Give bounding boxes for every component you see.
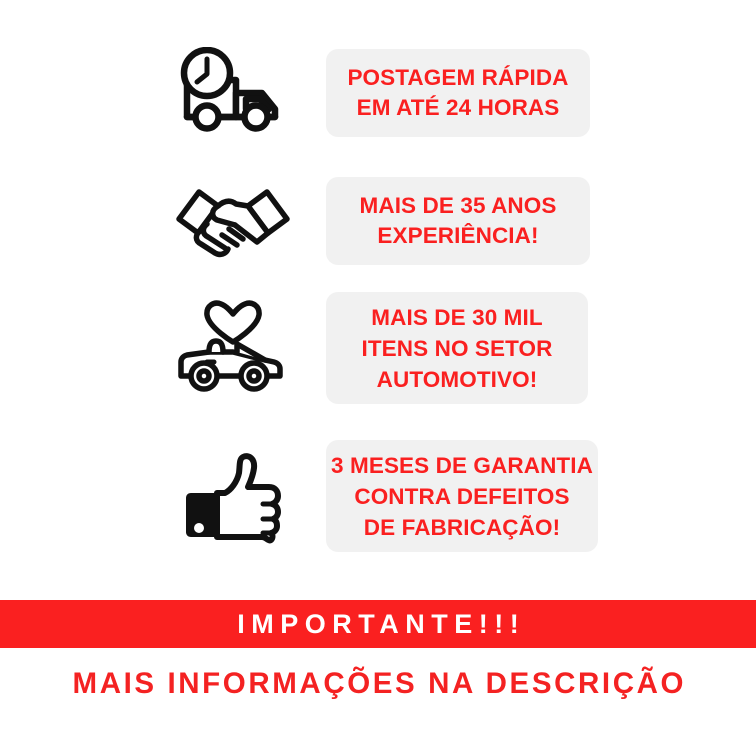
benefit-text-pill: POSTAGEM RÁPIDA EM ATÉ 24 HORAS [326,49,590,137]
benefit-line: AUTOMOTIVO! [377,364,538,395]
delivery-truck-clock-icon [158,38,308,148]
benefit-text-pill: MAIS DE 30 MIL ITENS NO SETOR AUTOMOTIVO… [326,292,588,404]
benefit-line: MAIS DE 35 ANOS [360,191,557,221]
benefit-line: POSTAGEM RÁPIDA [347,63,568,93]
benefit-line: EXPERIÊNCIA! [377,221,538,251]
promotional-banner: POSTAGEM RÁPIDA EM ATÉ 24 HORAS [0,0,756,756]
benefit-line: MAIS DE 30 MIL [371,302,542,333]
benefit-row: 3 MESES DE GARANTIA CONTRA DEFEITOS DE F… [0,430,756,562]
benefit-text-pill: 3 MESES DE GARANTIA CONTRA DEFEITOS DE F… [326,440,598,552]
important-banner-text: IMPORTANTE!!! [231,609,525,640]
benefit-text-pill: MAIS DE 35 ANOS EXPERIÊNCIA! [326,177,590,265]
car-heart-icon [158,293,308,403]
handshake-icon [158,166,308,276]
important-banner: IMPORTANTE!!! [0,600,756,648]
benefit-line: CONTRA DEFEITOS [354,481,569,512]
benefit-line: EM ATÉ 24 HORAS [357,93,560,123]
benefit-row: MAIS DE 30 MIL ITENS NO SETOR AUTOMOTIVO… [0,283,756,413]
benefits-list: POSTAGEM RÁPIDA EM ATÉ 24 HORAS [0,0,756,596]
benefit-row: MAIS DE 35 ANOS EXPERIÊNCIA! [0,160,756,282]
benefit-row: POSTAGEM RÁPIDA EM ATÉ 24 HORAS [0,30,756,155]
benefit-line: DE FABRICAÇÃO! [364,512,560,543]
benefit-line: 3 MESES DE GARANTIA [331,450,593,481]
benefit-line: ITENS NO SETOR [361,333,552,364]
description-note-text: MAIS INFORMAÇÕES NA DESCRIÇÃO [70,667,686,701]
thumbs-up-icon [158,441,308,551]
description-note: MAIS INFORMAÇÕES NA DESCRIÇÃO [0,656,756,712]
